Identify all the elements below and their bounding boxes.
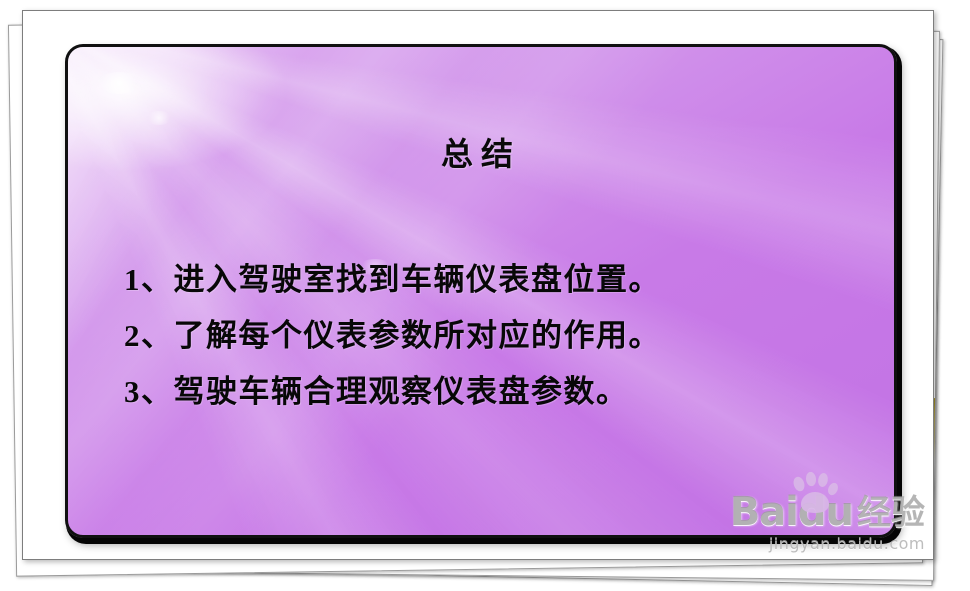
lens-flare-icon <box>146 111 172 125</box>
lens-flare-icon <box>96 72 142 94</box>
slide-bullet-item: 3、驾驶车辆合理观察仪表盘参数。 <box>124 364 864 420</box>
presentation-slide: 总结 1、进入驾驶室找到车辆仪表盘位置。 2、了解每个仪表参数所对应的作用。 3… <box>65 44 897 538</box>
front-paper-page: 总结 1、进入驾驶室找到车辆仪表盘位置。 2、了解每个仪表参数所对应的作用。 3… <box>22 10 934 560</box>
slide-bullet-list: 1、进入驾驶室找到车辆仪表盘位置。 2、了解每个仪表参数所对应的作用。 3、驾驶… <box>124 252 864 420</box>
slide-bullet-item: 1、进入驾驶室找到车辆仪表盘位置。 <box>124 252 864 308</box>
slide-bullet-item: 2、了解每个仪表参数所对应的作用。 <box>124 308 864 364</box>
slide-stack-stage: 总结 1、进入驾驶室找到车辆仪表盘位置。 2、了解每个仪表参数所对应的作用。 3… <box>0 0 970 591</box>
slide-title: 总结 <box>68 129 894 175</box>
